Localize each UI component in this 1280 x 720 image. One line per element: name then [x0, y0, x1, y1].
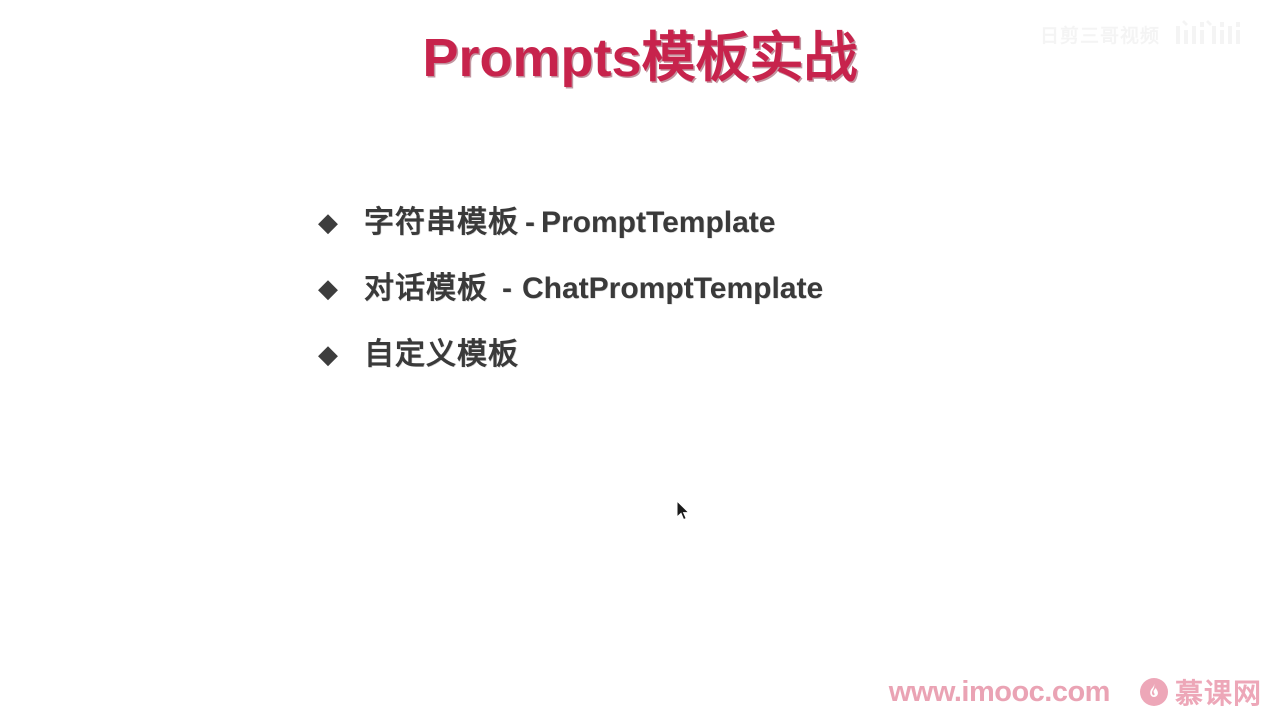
- bullet-label-cn: 对话模板: [364, 272, 488, 305]
- presentation-slide: Prompts模板实战 ◆ 字符串模板-PromptTemplate ◆ 对话模…: [0, 0, 1280, 720]
- bullet-separator: [519, 338, 531, 371]
- bullet-item-label: 字符串模板-PromptTemplate: [364, 203, 775, 243]
- diamond-bullet-icon: ◆: [318, 275, 364, 301]
- bilibili-logo-icon: [1170, 18, 1266, 50]
- flame-icon: [1140, 678, 1168, 706]
- bullet-separator: -: [519, 206, 541, 239]
- diamond-bullet-icon: ◆: [318, 209, 364, 235]
- bullet-list: ◆ 字符串模板-PromptTemplate ◆ 对话模板-ChatPrompt…: [318, 190, 1078, 388]
- bullet-label-cn: 字符串模板: [364, 206, 519, 239]
- bilibili-watermark: 日剪三哥视频: [1040, 18, 1266, 50]
- bullet-item-label: 对话模板-ChatPromptTemplate: [364, 269, 823, 309]
- bullet-label-en: ChatPromptTemplate: [522, 272, 823, 305]
- bullet-label-cn: 自定义模板: [364, 338, 519, 371]
- diamond-bullet-icon: ◆: [318, 341, 364, 367]
- imooc-brand-label: 慕课网: [1175, 672, 1262, 712]
- bullet-item-string-template: ◆ 字符串模板-PromptTemplate: [318, 190, 1078, 256]
- mouse-pointer-icon: [676, 500, 692, 522]
- bullet-item-label: 自定义模板: [364, 335, 531, 375]
- bilibili-username-label: 日剪三哥视频: [1040, 21, 1160, 48]
- bullet-item-custom-template: ◆ 自定义模板: [318, 322, 1078, 388]
- bullet-separator: -: [488, 272, 522, 305]
- imooc-brand: 慕课网: [1140, 672, 1262, 712]
- bullet-item-chat-template: ◆ 对话模板-ChatPromptTemplate: [318, 256, 1078, 322]
- imooc-watermark: www.imooc.com 慕课网: [889, 672, 1262, 712]
- bullet-label-en: PromptTemplate: [541, 206, 775, 239]
- imooc-url-label: www.imooc.com: [889, 676, 1110, 709]
